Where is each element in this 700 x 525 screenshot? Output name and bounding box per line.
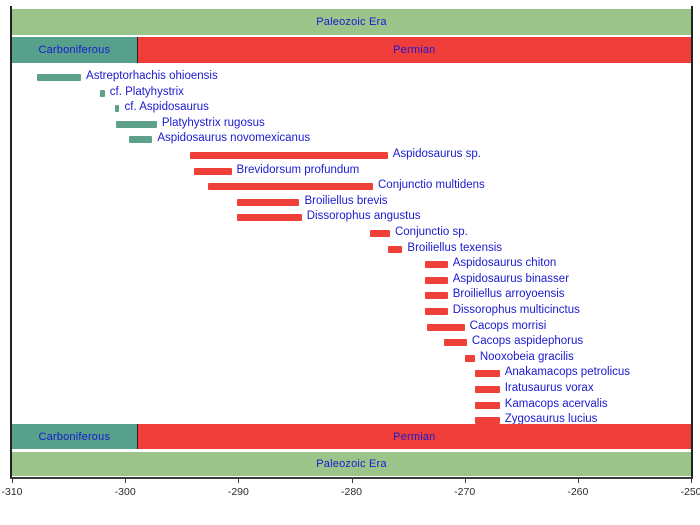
taxon-range-bar[interactable] [444,339,467,346]
taxon-range-row[interactable]: Aspidosaurus binasser [0,273,700,288]
taxon-range-row[interactable]: Dissorophus multicinctus [0,304,700,319]
taxon-range-row[interactable]: Broiliellus texensis [0,242,700,257]
taxon-label: Cacops morrisi [470,319,547,334]
taxon-range-row[interactable]: Aspidosaurus sp. [0,148,700,163]
taxon-label: Astreptorhachis ohioensis [86,69,218,84]
taxon-label: Aspidosaurus novomexicanus [157,131,310,146]
taxon-label: Cacops aspidephorus [472,334,583,349]
taxon-range-row[interactable]: Kamacops acervalis [0,398,700,413]
x-axis-tick-label: -260 [567,486,588,498]
taxon-range-bar[interactable] [208,183,373,190]
taxon-label: Aspidosaurus sp. [393,147,481,162]
timescale-band-label: Permian [393,431,435,443]
taxon-range-row[interactable]: Brevidorsum profundum [0,164,700,179]
taxon-label: Broiliellus brevis [304,194,387,209]
x-axis-tick [578,477,579,483]
taxon-range-row[interactable]: Cacops morrisi [0,320,700,335]
x-axis-tick-label: -270 [454,486,475,498]
taxon-range-bar[interactable] [190,152,388,159]
taxon-label: Conjunctio multidens [378,178,485,193]
timescale-band-label: Carboniferous [38,431,110,443]
taxon-range-bar[interactable] [475,402,500,409]
taxon-range-row[interactable]: Aspidosaurus chiton [0,257,700,272]
taxon-label: Conjunctio sp. [395,225,468,240]
taxon-label: Platyhystrix rugosus [162,116,265,131]
taxon-range-row[interactable]: Nooxobeia gracilis [0,351,700,366]
x-axis-tick [691,477,692,483]
x-axis-tick-label: -300 [115,486,136,498]
taxon-label: Aspidosaurus chiton [453,256,557,271]
taxon-label: Aspidosaurus binasser [453,272,569,287]
taxon-range-row[interactable]: cf. Aspidosaurus [0,101,700,116]
taxon-range-row[interactable]: Iratusaurus vorax [0,382,700,397]
taxon-range-row[interactable]: Astreptorhachis ohioensis [0,70,700,85]
x-axis-tick-label: -310 [1,486,22,498]
taxon-range-bar[interactable] [129,136,153,143]
taxon-range-bar[interactable] [475,370,500,377]
taxon-range-bar[interactable] [425,277,448,284]
taxon-label: Iratusaurus vorax [505,381,594,396]
taxon-range-row[interactable]: Aspidosaurus novomexicanus [0,132,700,147]
timescale-band-paleozoic-era[interactable]: Paleozoic Era [12,452,691,476]
x-axis-tick-label: -290 [228,486,249,498]
taxon-range-bar[interactable] [388,246,403,253]
taxon-label: Broiliellus arroyoensis [453,287,565,302]
taxon-label: Kamacops acervalis [505,397,608,412]
taxon-range-bar[interactable] [116,121,157,128]
taxon-range-bar[interactable] [37,74,81,81]
taxon-range-row[interactable]: Broiliellus brevis [0,195,700,210]
taxon-range-row[interactable]: Dissorophus angustus [0,210,700,225]
x-axis-tick [12,477,13,483]
taxon-range-row[interactable]: Conjunctio sp. [0,226,700,241]
x-axis-tick [238,477,239,483]
taxon-label: cf. Platyhystrix [110,85,184,100]
taxon-range-row[interactable]: Anakamacops petrolicus [0,366,700,381]
timescale-band-carboniferous[interactable]: Carboniferous [12,424,138,449]
taxon-label: Brevidorsum profundum [237,163,360,178]
taxon-label: Broiliellus texensis [407,241,502,256]
timescale-band-permian[interactable]: Permian [138,424,691,449]
taxon-range-bar[interactable] [465,355,475,362]
taxon-range-bar[interactable] [475,386,500,393]
taxon-range-bar[interactable] [427,324,464,331]
taxon-label: Nooxobeia gracilis [480,350,574,365]
taxon-range-bar[interactable] [425,308,448,315]
taxon-range-bar[interactable] [425,292,448,299]
x-axis-tick-label: -280 [341,486,362,498]
taxon-range-row[interactable]: Platyhystrix rugosus [0,117,700,132]
taxon-range-row[interactable]: Conjunctio multidens [0,179,700,194]
x-axis-tick-label: -250 [680,486,700,498]
taxon-range-bar[interactable] [425,261,448,268]
taxon-range-bar[interactable] [194,168,231,175]
timescale-band-label: Paleozoic Era [316,458,386,470]
x-axis-tick [125,477,126,483]
taxon-label: Anakamacops petrolicus [505,365,630,380]
taxon-range-row[interactable]: Cacops aspidephorus [0,335,700,350]
x-axis-tick [465,477,466,483]
x-axis-tick [352,477,353,483]
taxon-range-bar[interactable] [115,105,120,112]
taxon-range-bar[interactable] [237,199,299,206]
taxon-label: Dissorophus angustus [307,209,421,224]
taxon-label: Dissorophus multicinctus [453,303,580,318]
taxon-range-bar[interactable] [237,214,302,221]
taxon-range-bar[interactable] [100,90,105,97]
taxon-label: cf. Aspidosaurus [125,100,209,115]
taxon-range-row[interactable]: Broiliellus arroyoensis [0,288,700,303]
taxon-range-row[interactable]: cf. Platyhystrix [0,86,700,101]
stratigraphic-range-chart: Paleozoic Era CarboniferousPermian Astre… [0,0,700,525]
taxon-range-bar[interactable] [370,230,390,237]
